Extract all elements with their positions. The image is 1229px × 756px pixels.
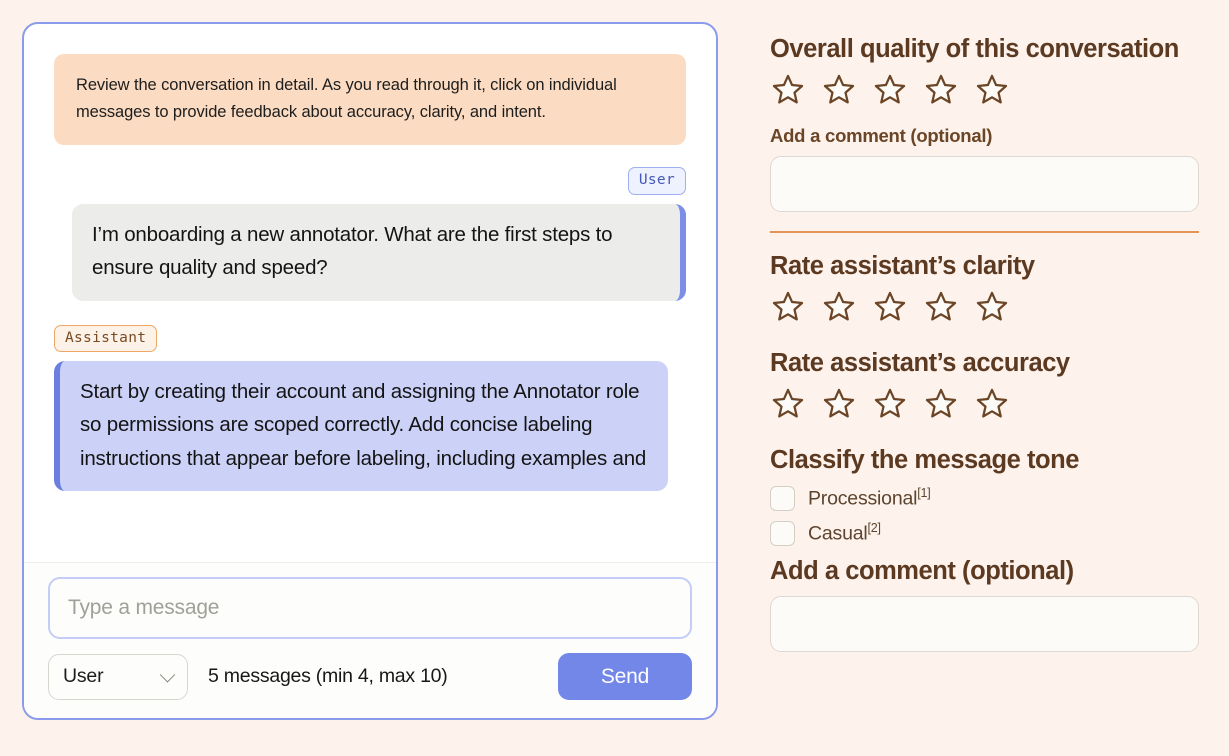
- star-outline-icon[interactable]: [923, 288, 959, 326]
- star-rating-accuracy[interactable]: [770, 385, 1199, 423]
- comment-input-overall[interactable]: [770, 156, 1199, 212]
- star-outline-icon[interactable]: [821, 288, 857, 326]
- app-root: Review the conversation in detail. As yo…: [0, 0, 1229, 756]
- spacer: [770, 546, 1199, 556]
- star-outline-icon[interactable]: [923, 385, 959, 423]
- section-clarity: Rate assistant’s clarity: [770, 251, 1199, 326]
- star-outline-icon[interactable]: [770, 288, 806, 326]
- chevron-down-icon: [160, 667, 176, 683]
- checkbox-casual[interactable]: [770, 521, 795, 546]
- section-divider: [770, 231, 1199, 233]
- section-message-tone: Classify the message tone Processional[1…: [770, 445, 1199, 652]
- message-composer: User 5 messages (min 4, max 10) Send: [24, 562, 716, 718]
- role-badge-row: Assistant: [54, 325, 686, 353]
- section-accuracy: Rate assistant’s accuracy: [770, 348, 1199, 423]
- star-rating-clarity[interactable]: [770, 288, 1199, 326]
- feedback-panel: Overall quality of this conversation Add…: [740, 0, 1229, 756]
- star-outline-icon[interactable]: [872, 288, 908, 326]
- comment-label: Add a comment (optional): [770, 125, 1199, 147]
- star-outline-icon[interactable]: [974, 71, 1010, 109]
- role-badge-assistant: Assistant: [54, 325, 157, 353]
- checkbox-row-processional[interactable]: Processional[1]: [770, 486, 1199, 511]
- star-outline-icon[interactable]: [974, 385, 1010, 423]
- bubble-row: Start by creating their account and assi…: [54, 361, 686, 491]
- section-heading: Rate assistant’s accuracy: [770, 348, 1199, 379]
- conversation-column: Review the conversation in detail. As yo…: [0, 0, 740, 756]
- message-user[interactable]: User I’m onboarding a new annotator. Wha…: [54, 167, 686, 300]
- star-outline-icon[interactable]: [923, 71, 959, 109]
- role-select[interactable]: User: [48, 654, 188, 700]
- role-select-value: User: [63, 665, 103, 688]
- section-overall-quality: Overall quality of this conversation Add…: [770, 34, 1199, 212]
- section-heading: Rate assistant’s clarity: [770, 251, 1199, 282]
- comment-label-tone: Add a comment (optional): [770, 556, 1199, 587]
- star-outline-icon[interactable]: [821, 385, 857, 423]
- star-outline-icon[interactable]: [974, 288, 1010, 326]
- star-outline-icon[interactable]: [821, 71, 857, 109]
- message-assistant[interactable]: Assistant Start by creating their accoun…: [54, 325, 686, 491]
- star-outline-icon[interactable]: [770, 71, 806, 109]
- comment-input-tone[interactable]: [770, 596, 1199, 652]
- role-badge-user: User: [628, 167, 686, 195]
- bubble-row: I’m onboarding a new annotator. What are…: [54, 204, 686, 300]
- message-input[interactable]: [48, 577, 692, 639]
- send-button[interactable]: Send: [558, 653, 692, 700]
- message-bubble-assistant[interactable]: Start by creating their account and assi…: [54, 361, 668, 491]
- checkbox-label-processional: Processional[1]: [808, 486, 931, 511]
- instruction-banner: Review the conversation in detail. As yo…: [54, 54, 686, 145]
- star-rating-overall[interactable]: [770, 71, 1199, 109]
- star-outline-icon[interactable]: [770, 385, 806, 423]
- composer-controls: User 5 messages (min 4, max 10) Send: [48, 653, 692, 700]
- checkbox-label-casual: Casual[2]: [808, 521, 881, 546]
- message-bubble-user[interactable]: I’m onboarding a new annotator. What are…: [72, 204, 686, 300]
- role-badge-row: User: [54, 167, 686, 195]
- star-outline-icon[interactable]: [872, 71, 908, 109]
- message-count-text: 5 messages (min 4, max 10): [208, 665, 448, 688]
- section-heading: Overall quality of this conversation: [770, 34, 1199, 65]
- star-outline-icon[interactable]: [872, 385, 908, 423]
- checkbox-processional[interactable]: [770, 486, 795, 511]
- checkbox-row-casual[interactable]: Casual[2]: [770, 521, 1199, 546]
- conversation-card: Review the conversation in detail. As yo…: [22, 22, 718, 720]
- section-heading: Classify the message tone: [770, 445, 1199, 476]
